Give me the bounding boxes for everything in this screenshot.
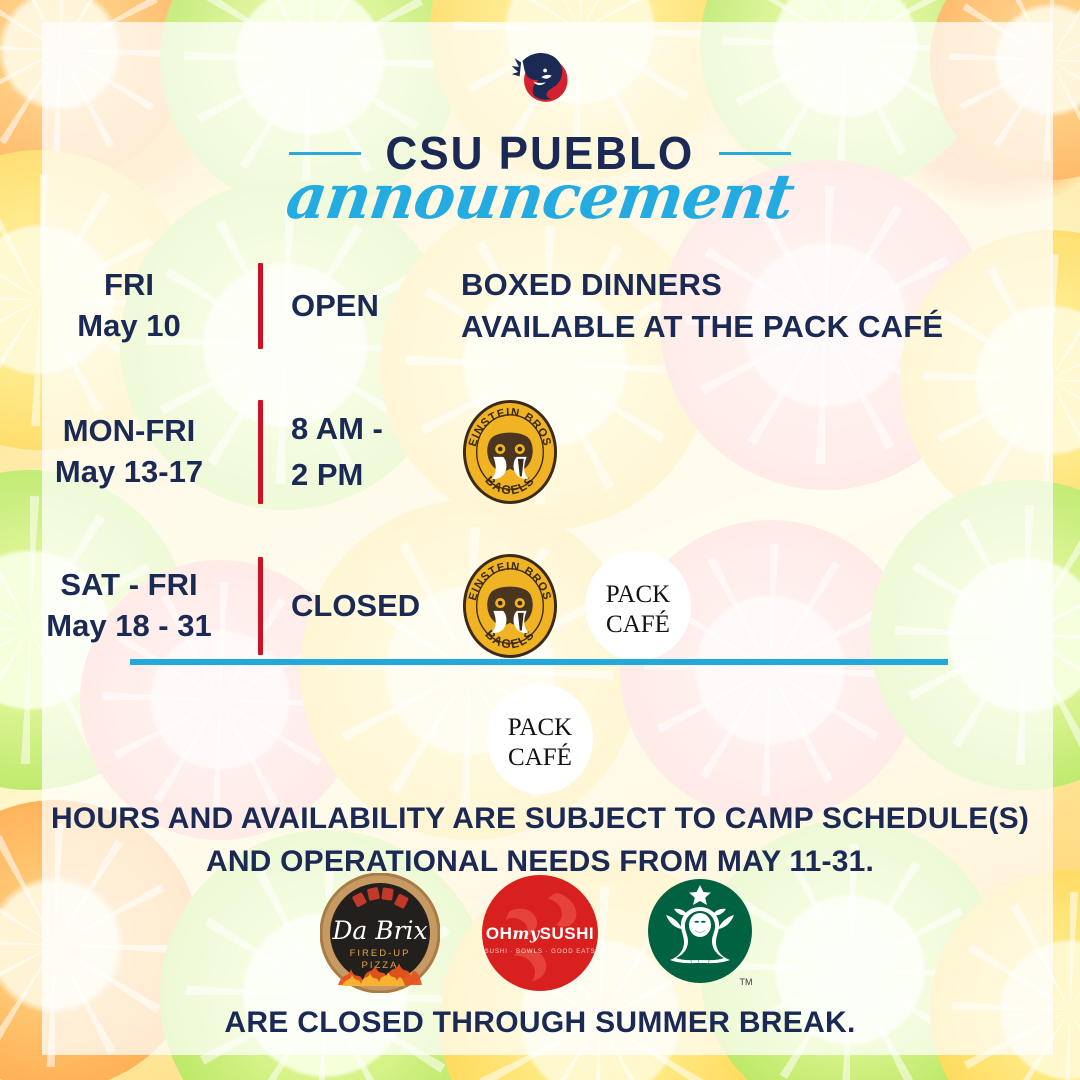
- svg-text:PIZZA: PIZZA: [362, 960, 399, 971]
- schedule-when: SAT - FRI May 18 - 31: [0, 565, 258, 647]
- schedule-date: May 13-17: [0, 452, 258, 493]
- starbucks-logo: TM: [640, 873, 760, 993]
- schedule-status: CLOSED: [263, 583, 461, 630]
- schedule-date: May 18 - 31: [0, 606, 258, 647]
- schedule-detail-line1: BOXED DINNERS: [461, 264, 943, 306]
- schedule-list: FRI May 10 OPEN BOXED DINNERS AVAILABLE …: [0, 252, 1080, 666]
- table-row: SAT - FRI May 18 - 31 CLOSED EINSTEIN BR…: [0, 546, 1080, 666]
- pack-cafe-logo: PACK CAFÉ: [583, 550, 693, 662]
- script-subtitle: announcement: [0, 160, 1080, 233]
- da-brix-pizza-logo: Da Brix FIRED-UP PIZZA: [320, 873, 440, 993]
- announcement-poster: CSU PUEBLO announcement FRI May 10 OPEN …: [0, 0, 1080, 1080]
- schedule-logos: EINSTEIN BROS BAGELS: [461, 550, 693, 662]
- schedule-detail-line2: AVAILABLE AT THE PACK CAFÉ: [461, 306, 943, 348]
- csu-pueblo-wolf-logo: [503, 48, 577, 112]
- schedule-day: FRI: [0, 265, 258, 306]
- schedule-status: 8 AM - 2 PM: [263, 406, 461, 499]
- schedule-detail: BOXED DINNERS AVAILABLE AT THE PACK CAFÉ: [461, 264, 943, 348]
- svg-text:SUSHI · BOWLS · GOOD EATS: SUSHI · BOWLS · GOOD EATS: [484, 948, 595, 955]
- section-divider: [130, 659, 948, 665]
- svg-text:OHmySUSHI: OHmySUSHI: [486, 924, 594, 943]
- svg-text:PACK: PACK: [508, 714, 572, 741]
- schedule-status-line1: 8 AM -: [291, 406, 461, 453]
- schedule-day: MON-FRI: [0, 411, 258, 452]
- note-line1: HOURS AND AVAILABILITY ARE SUBJECT TO CA…: [0, 798, 1080, 841]
- bottom-logo-row: Da Brix FIRED-UP PIZZA OHmySUSHI SUSHI ·…: [0, 873, 1080, 993]
- poster-content: CSU PUEBLO announcement FRI May 10 OPEN …: [0, 0, 1080, 1080]
- svg-text:FIRED-UP: FIRED-UP: [350, 948, 411, 959]
- schedule-logos: EINSTEIN BROS BAGELS: [461, 398, 559, 506]
- schedule-status: OPEN: [263, 283, 461, 330]
- title-rule-left: [289, 152, 361, 155]
- svg-text:PACK: PACK: [606, 581, 670, 608]
- da-brix-wordmark: Da Brix: [331, 916, 427, 945]
- table-row: MON-FRI May 13-17 8 AM - 2 PM EINST: [0, 382, 1080, 522]
- schedule-date: May 10: [0, 306, 258, 347]
- einstein-bros-bagels-logo: EINSTEIN BROS BAGELS: [461, 398, 559, 506]
- note-text: HOURS AND AVAILABILITY ARE SUBJECT TO CA…: [0, 798, 1080, 883]
- schedule-day: SAT - FRI: [0, 565, 258, 606]
- svg-text:CAFÉ: CAFÉ: [606, 610, 670, 638]
- schedule-when: FRI May 10: [0, 265, 258, 347]
- schedule-when: MON-FRI May 13-17: [0, 411, 258, 493]
- trademark-mark: TM: [740, 977, 753, 987]
- svg-text:CAFÉ: CAFÉ: [508, 743, 572, 771]
- schedule-status-line2: 2 PM: [291, 452, 461, 499]
- einstein-bros-bagels-logo: EINSTEIN BROS BAGELS: [461, 552, 559, 660]
- title-rule-right: [719, 152, 791, 155]
- closing-text: ARE CLOSED THROUGH SUMMER BREAK.: [0, 1006, 1080, 1040]
- table-row: FRI May 10 OPEN BOXED DINNERS AVAILABLE …: [0, 252, 1080, 360]
- pack-cafe-logo: PACK CAFÉ: [485, 683, 595, 795]
- oh-my-sushi-logo: OHmySUSHI SUSHI · BOWLS · GOOD EATS: [480, 873, 600, 993]
